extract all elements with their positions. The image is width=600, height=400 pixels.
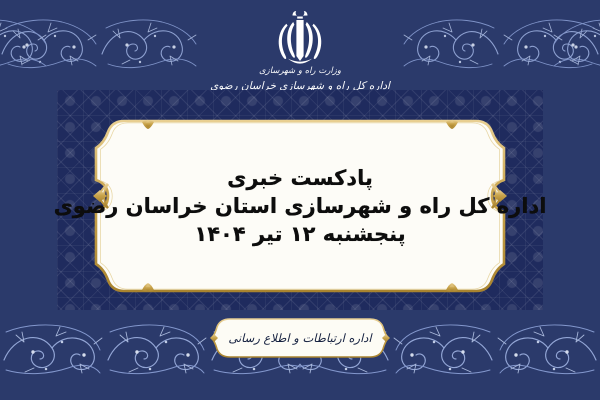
card-subtitle: اداره کل راه و شهرسازی استان خراسان رضوی (54, 194, 547, 218)
footer-band: اداره ارتباطات و اطلاع رسانی (0, 310, 600, 400)
footer-plate: اداره ارتباطات و اطلاع رسانی (210, 316, 390, 360)
directorate-name-line: اداره کل راه و شهرسازی خراسان رضوی (0, 79, 600, 90)
card-text-block: پادکست خبری اداره کل راه و شهرسازی استان… (90, 118, 510, 294)
arabesque-vine-left-icon (0, 14, 210, 72)
iran-national-emblem-icon (271, 6, 329, 68)
card-title: پادکست خبری (227, 166, 373, 190)
ornate-card: پادکست خبری اداره کل راه و شهرسازی استان… (90, 118, 510, 294)
podcast-banner: وزارت راه و شهرسازی اداره کل راه و شهرسا… (0, 0, 600, 400)
arabesque-vine-right-icon (390, 14, 600, 72)
footer-hem (0, 378, 600, 400)
footer-plate-label: اداره ارتباطات و اطلاع رسانی (210, 316, 390, 360)
header-band: وزارت راه و شهرسازی اداره کل راه و شهرسا… (0, 0, 600, 90)
card-date: پنجشنبه ۱۲ تیر ۱۴۰۴ (194, 222, 405, 246)
